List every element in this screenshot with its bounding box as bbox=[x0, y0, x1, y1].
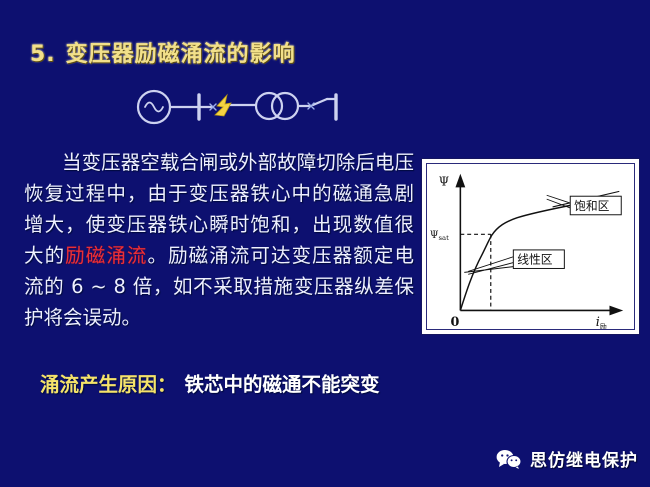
sine-wave-icon bbox=[145, 103, 163, 112]
conclusion-answer-text: 铁芯中的磁通不能突变 bbox=[185, 373, 380, 396]
saturation-region-label: 饱和区 bbox=[574, 199, 610, 213]
saturation-region-callout: 饱和区 bbox=[547, 195, 622, 215]
psi-sat-tick-label: Ψsat bbox=[430, 230, 449, 242]
linear-region-label: 线性区 bbox=[517, 253, 553, 267]
conclusion-line: 涌流产生原因：铁芯中的磁通不能突变 bbox=[40, 368, 380, 397]
chart-svg: Ψ Ψsat 0 i励 饱和区 线性区 bbox=[427, 164, 634, 329]
y-axis-arrow-icon bbox=[455, 174, 465, 188]
body-paragraph: 当变压器空载合闸或外部故障切除后电压恢复过程中，由于变压器铁心中的磁通急剧增大，… bbox=[24, 147, 414, 333]
chart-inner-frame: Ψ Ψsat 0 i励 饱和区 线性区 bbox=[426, 163, 635, 330]
origin-label: 0 bbox=[451, 314, 460, 329]
footer-brand: 思仿继电保护 bbox=[496, 446, 638, 471]
open-switch-icon bbox=[313, 99, 327, 105]
title-number: 5. bbox=[30, 42, 56, 67]
transformer-winding-2-icon bbox=[272, 93, 298, 119]
circuit-diagram bbox=[135, 84, 340, 130]
title-text: 变压器励磁涌流的影响 bbox=[66, 42, 296, 67]
body-line-6: 。励磁涌流可 bbox=[148, 244, 271, 267]
wechat-logo bbox=[496, 449, 522, 469]
slide-canvas: 5.变压器励磁涌流的影响 bbox=[0, 0, 650, 487]
page-title: 5.变压器励磁涌流的影响 bbox=[30, 36, 296, 68]
transformer-winding-1-icon bbox=[256, 93, 282, 119]
magnetization-curve-panel: Ψ Ψsat 0 i励 饱和区 线性区 bbox=[421, 158, 640, 335]
x-axis-label: i励 bbox=[596, 314, 607, 329]
fault-switch-icon bbox=[215, 95, 231, 116]
brand-text: 思仿继电保护 bbox=[530, 446, 638, 471]
conclusion-question-label: 涌流产生原因： bbox=[40, 373, 177, 396]
body-line-1: 当变压器空载合闸或外部故障切除后 bbox=[62, 151, 375, 174]
circuit-svg bbox=[135, 84, 340, 130]
y-axis-label: Ψ bbox=[439, 175, 449, 189]
highlight-term: 励磁涌流 bbox=[65, 244, 147, 267]
x-axis-arrow-icon bbox=[609, 306, 623, 316]
